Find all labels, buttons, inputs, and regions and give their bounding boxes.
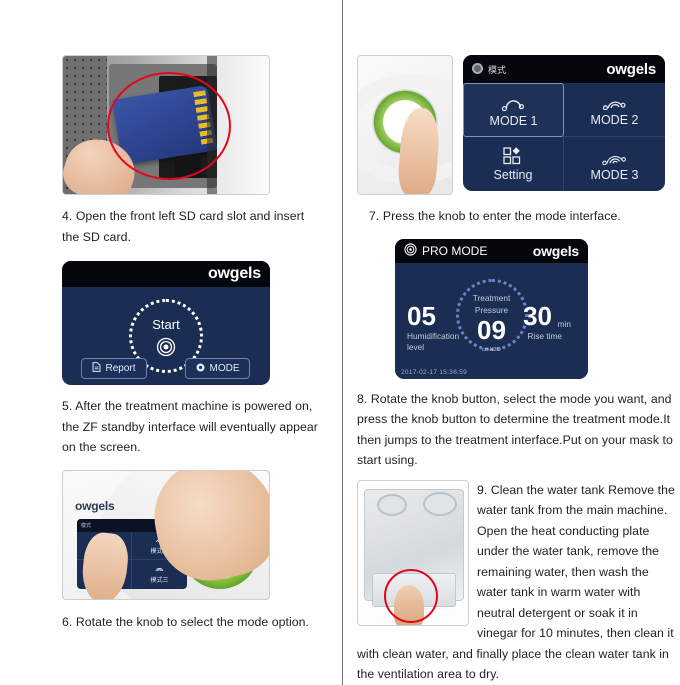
target-icon xyxy=(404,243,417,259)
rise-time-label: Rise time xyxy=(527,331,562,342)
left-column: 4. Open the front left SD card slot and … xyxy=(62,0,332,632)
step-9-block: 9. Clean the water tank Remove the water… xyxy=(357,480,675,685)
column-divider xyxy=(342,0,343,685)
highlight-circle xyxy=(107,72,231,180)
knob-rotate-photo: owgels 模式 owgels 模式一 xyxy=(62,470,270,600)
treatment-label-top: Treatment xyxy=(473,293,511,304)
standby-screen: owgels Start Repo xyxy=(62,261,270,385)
rise-time-unit: min xyxy=(558,319,571,330)
instruction-sheet: 4. Open the front left SD card slot and … xyxy=(0,0,680,685)
rise-time-value: 30 xyxy=(523,301,552,332)
pressure-unit: cmH2O xyxy=(482,345,501,356)
mini-header-label: 模式 xyxy=(81,522,91,529)
caption-step-7: 7. Press the knob to enter the mode inte… xyxy=(357,206,675,227)
right-column: 模式 owgels MODE 1 MODE xyxy=(357,0,675,685)
header-mode-label: 模式 xyxy=(488,65,506,75)
mini-cell-icon xyxy=(154,564,165,574)
humidification-label: Humidification level xyxy=(407,331,469,353)
settings-squares-icon xyxy=(503,147,523,166)
panel-brand: owgels xyxy=(75,499,114,513)
caption-step-6: 6. Rotate the knob to select the mode op… xyxy=(62,612,327,633)
screen-button-row: Report MODE xyxy=(62,358,270,379)
brand-logo: owgels xyxy=(606,61,656,78)
humidification-value: 05 xyxy=(407,301,436,332)
screen-header: PRO MODE owgels xyxy=(395,239,588,263)
header-left: 模式 xyxy=(472,60,506,78)
pro-mode-title: PRO MODE xyxy=(422,244,487,258)
mode-icon xyxy=(196,363,205,375)
brand-logo: owgels xyxy=(208,265,261,283)
report-button[interactable]: Report xyxy=(81,358,146,379)
pressure-value: 09 xyxy=(477,315,506,346)
start-area: Start Report xyxy=(62,287,270,385)
pro-mode-body: 05 Humidification level Treatment Pressu… xyxy=(395,263,588,379)
mode-cell-label: MODE 3 xyxy=(591,168,639,182)
mode-cell-label: MODE 1 xyxy=(490,114,538,128)
tank-opening xyxy=(423,492,457,516)
report-icon xyxy=(92,362,101,375)
mode-grid: MODE 1 MODE 2 Setting xyxy=(463,83,665,191)
highlight-circle xyxy=(384,569,438,623)
auto-wave-icon xyxy=(602,147,628,166)
sd-card-photo xyxy=(62,55,270,195)
brand-logo: owgels xyxy=(533,243,579,259)
mini-cell-label: 模式三 xyxy=(150,575,168,584)
step-7-photos: 模式 owgels MODE 1 MODE xyxy=(357,55,675,195)
pro-mode-title-wrap: PRO MODE xyxy=(404,243,487,259)
start-label: Start xyxy=(152,317,179,332)
caption-step-4: 4. Open the front left SD card slot and … xyxy=(62,206,312,247)
report-button-label: Report xyxy=(105,363,135,374)
pro-mode-screen: PRO MODE owgels 05 Humidification level … xyxy=(395,239,588,379)
water-tank-photo xyxy=(357,480,469,626)
mode-button[interactable]: MODE xyxy=(185,358,250,379)
cpap-curve-icon xyxy=(501,93,527,112)
tank-opening xyxy=(377,494,407,516)
mode-cell-setting[interactable]: Setting xyxy=(463,137,564,191)
timestamp: 2017-02-17 15:36:59 xyxy=(401,369,467,376)
mode-selection-screen: 模式 owgels MODE 1 MODE xyxy=(463,55,665,191)
press-knob-photo xyxy=(357,55,453,195)
mode-cell-label: Setting xyxy=(494,168,533,182)
caption-step-8: 8. Rotate the knob button, select the mo… xyxy=(357,389,675,471)
mode-dot-icon xyxy=(472,63,483,74)
mode-cell-mode-3[interactable]: MODE 3 xyxy=(564,137,665,191)
mode-cell-mode-1[interactable]: MODE 1 xyxy=(463,83,564,137)
caption-step-5: 5. After the treatment machine is powere… xyxy=(62,396,324,458)
screen-header: 模式 owgels xyxy=(463,55,665,83)
mode-cell-label: MODE 2 xyxy=(591,113,639,127)
screen-header: owgels xyxy=(62,261,270,287)
mode-cell-mode-2[interactable]: MODE 2 xyxy=(564,83,665,137)
mode-button-label: MODE xyxy=(209,363,239,374)
bilevel-wave-icon xyxy=(602,92,628,111)
